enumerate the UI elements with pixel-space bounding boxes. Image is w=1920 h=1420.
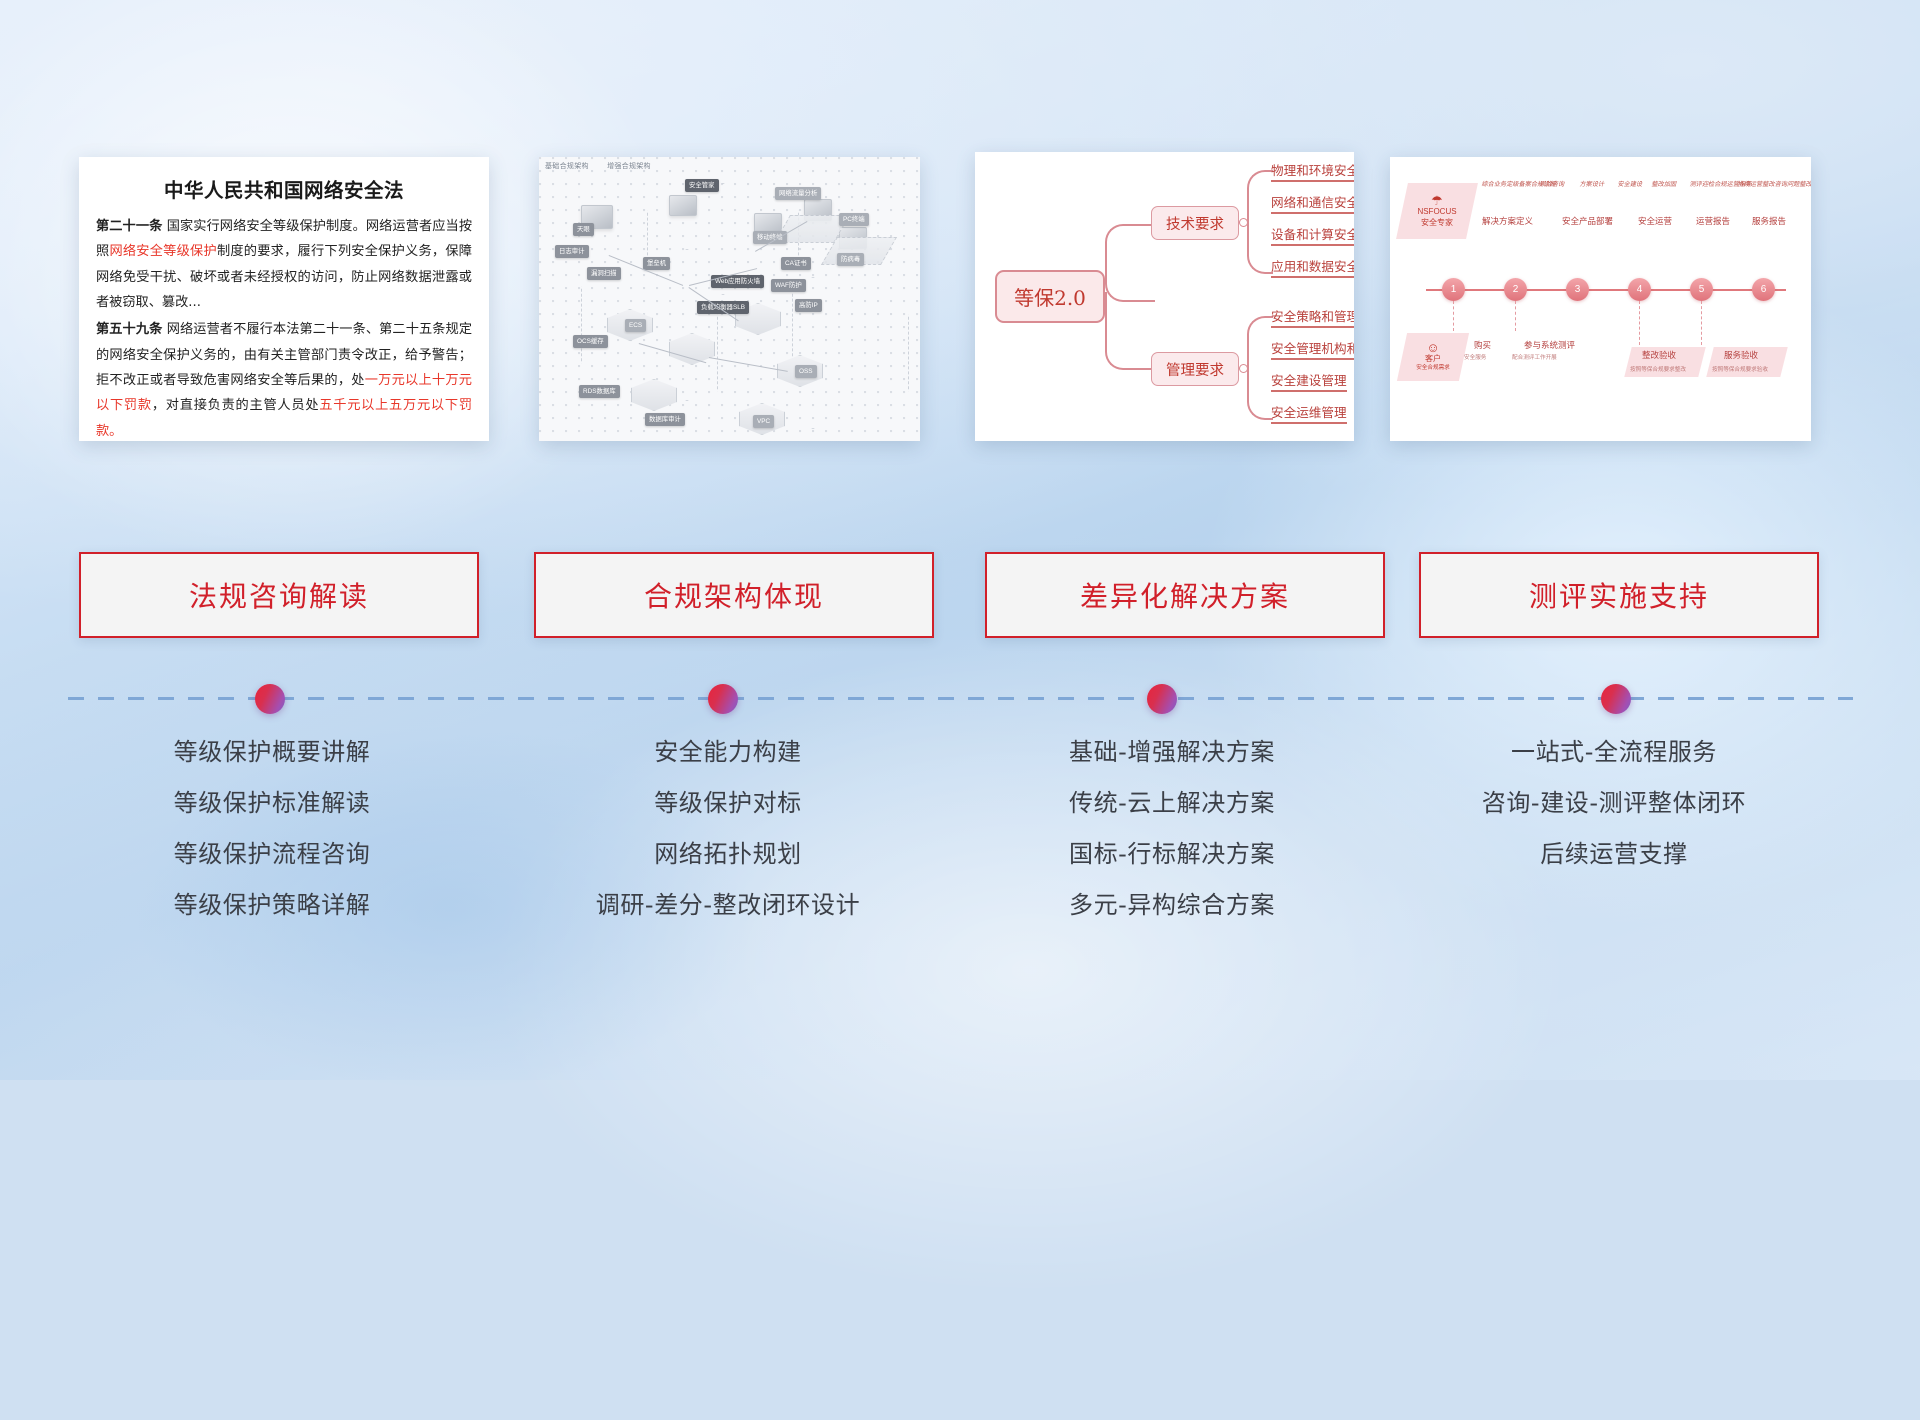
nsfocus-bottom-label-2: 参与系统测评: [1524, 339, 1575, 351]
timeline-dot-1[interactable]: [255, 684, 285, 714]
nsfocus-phase-4: 运营报告: [1696, 215, 1730, 227]
architecture-top-labels: 基础合规架构 增强合规架构: [545, 161, 667, 171]
nsfocus-phase-1: 解决方案定义: [1482, 215, 1533, 227]
nsfocus-connector-4: [1701, 301, 1703, 345]
mindmap-leaf-device: 设备和计算安全: [1271, 224, 1354, 246]
section-items-3: 基础-增强解决方案 传统-云上解决方案 国标-行标解决方案 多元-异构综合方案: [972, 740, 1372, 944]
nsfocus-expert-chip: ☂ NSFOCUS 安全专家: [1396, 183, 1478, 239]
list-item: 等级保护标准解读: [72, 791, 472, 815]
architecture-node-traffic: 网络流量分析: [775, 187, 821, 200]
nsfocus-customer-chip: ☺ 客户 安全合规需求: [1397, 333, 1469, 381]
mindmap-curve-tech-leaves: [1247, 170, 1273, 274]
list-item: 咨询-建设-测评整体闭环: [1414, 791, 1814, 815]
nsfocus-customer-sub: 安全合规需求: [1416, 365, 1450, 373]
nsfocus-step-4[interactable]: 4: [1628, 278, 1651, 301]
timeline-dot-3[interactable]: [1147, 684, 1177, 714]
list-item: 等级保护概要讲解: [72, 740, 472, 764]
nsfocus-bottom-sub-2: 配合测评工作开展: [1512, 353, 1557, 361]
architecture-node-vuln: 漏洞扫描: [587, 267, 621, 280]
mindmap-leaf-application: 应用和数据安全: [1271, 256, 1354, 278]
architecture-node-tianyan: 天眼: [573, 223, 594, 236]
nsfocus-step-1[interactable]: 1: [1442, 278, 1465, 301]
architecture-label-basic: 基础合规架构: [545, 163, 589, 170]
mindmap-root: 等保2.0: [995, 270, 1105, 323]
architecture-node-log: 日志审计: [555, 245, 589, 258]
architecture-node-ca: CA证书: [781, 257, 811, 270]
nsfocus-bottom-label-4: 服务验收: [1724, 349, 1758, 361]
timeline-dot-2[interactable]: [708, 684, 738, 714]
list-item: 调研-差分-整改闭环设计: [528, 893, 928, 917]
section-title-box-2[interactable]: 合规架构体现: [534, 552, 934, 638]
architecture-label-enhanced: 增强合规架构: [607, 163, 651, 170]
section-items-2: 安全能力构建 等级保护对标 网络拓扑规划 调研-差分-整改闭环设计: [528, 740, 928, 944]
architecture-node-ocs: OCS缓存: [573, 335, 608, 348]
nsfocus-customer-label: 客户: [1425, 354, 1441, 365]
list-item: 基础-增强解决方案: [972, 740, 1372, 764]
nsfocus-brand: NSFOCUS: [1417, 207, 1456, 218]
nsfocus-top-label-3: 方案设计: [1579, 179, 1606, 188]
card-cybersecurity-law[interactable]: 中华人民共和国网络安全法 第二十一条 国家实行网络安全等级保护制度。网络运营者应…: [79, 157, 489, 441]
architecture-diagram: 基础合规架构 增强合规架构 安全管家 网络流量分析 天眼: [539, 157, 920, 441]
law-article-59: 第五十九条 网络运营者不履行本法第二十一条、第二十五条规定的网络安全保护义务的，…: [96, 317, 472, 441]
mindmap-leaf-build: 安全建设管理: [1271, 370, 1347, 392]
architecture-cube-guanjia: [669, 195, 697, 216]
section-title-4: 测评实施支持: [1529, 575, 1709, 615]
list-item: 多元-异构综合方案: [972, 893, 1372, 917]
customer-icon: ☺: [1426, 341, 1439, 354]
card-nsfocus-timeline[interactable]: ☂ NSFOCUS 安全专家 综合业务定级备案合规诊断 风险咨询 方案设计 安全…: [1390, 157, 1811, 441]
nsfocus-connector-2: [1515, 301, 1517, 331]
mindmap-branch-management: 管理要求: [1151, 352, 1239, 386]
nsfocus-connector-3: [1639, 301, 1641, 345]
nsfocus-phase-3: 安全运营: [1638, 215, 1672, 227]
nsfocus-step-6[interactable]: 6: [1752, 278, 1775, 301]
architecture-node-ecs: ECS: [625, 319, 646, 332]
list-item: 等级保护流程咨询: [72, 842, 472, 866]
architecture-node-waf: WAF防护: [771, 279, 806, 292]
list-item: 等级保护对标: [528, 791, 928, 815]
mindmap-leaf-network: 网络和通信安全: [1271, 192, 1354, 214]
list-item: 网络拓扑规划: [528, 842, 928, 866]
mindmap-leaf-physical: 物理和环境安全: [1271, 160, 1354, 182]
mindmap: 等保2.0 技术要求 物理和环境安全 网络和通信安全 设备和计算安全 应用和数据…: [975, 152, 1354, 441]
mindmap-curve-root-mgmt: [1105, 292, 1155, 370]
nsfocus-axis: [1426, 289, 1786, 291]
architecture-node-rds: RDS数据库: [579, 385, 620, 398]
architecture-node-db-audit: 数据库审计: [645, 413, 685, 426]
list-item: 等级保护策略详解: [72, 893, 472, 917]
mindmap-leaf-policy: 安全策略和管理制度: [1271, 306, 1354, 328]
law-article-21-highlight: 网络安全等级保护: [109, 244, 217, 259]
timeline-axis: [68, 697, 1853, 700]
list-item: 国标-行标解决方案: [972, 842, 1372, 866]
list-item: 后续运营支撑: [1414, 842, 1814, 866]
nsfocus-bottom-sub-4: 按照等保合规要求验收: [1712, 365, 1768, 373]
nsfocus-bottom-label-1: 购买: [1474, 339, 1491, 351]
nsfocus-phase-2: 安全产品部署: [1562, 215, 1613, 227]
card-compliance-architecture[interactable]: 基础合规架构 增强合规架构 安全管家 网络流量分析 天眼: [539, 157, 920, 441]
section-title-2: 合规架构体现: [644, 575, 824, 615]
timeline-dot-4[interactable]: [1601, 684, 1631, 714]
nsfocus-bottom-label-3: 整改验收: [1642, 349, 1676, 361]
nsfocus-phase-5: 服务报告: [1752, 215, 1786, 227]
section-title-3: 差异化解决方案: [1080, 575, 1290, 615]
nsfocus-step-3[interactable]: 3: [1566, 278, 1589, 301]
nsfocus-role: 安全专家: [1421, 218, 1453, 229]
architecture-node-slb: 负载均衡器SLB: [697, 301, 749, 314]
architecture-node-bastion: 堡垒机: [643, 257, 670, 270]
nsfocus-bottom-sub-1: 安全服务: [1464, 353, 1486, 361]
architecture-node-vpc: VPC: [753, 415, 774, 428]
list-item: 传统-云上解决方案: [972, 791, 1372, 815]
mindmap-branch-technical: 技术要求: [1151, 206, 1239, 240]
list-item: 安全能力构建: [528, 740, 928, 764]
architecture-node-manager: 安全管家: [685, 179, 719, 192]
section-title-1: 法规咨询解读: [189, 575, 369, 615]
section-items-4: 一站式-全流程服务 咨询-建设-测评整体闭环 后续运营支撑: [1414, 740, 1814, 893]
nsfocus-timeline: ☂ NSFOCUS 安全专家 综合业务定级备案合规诊断 风险咨询 方案设计 安全…: [1390, 157, 1811, 441]
law-article-59-text-b: ，对直接负责的主管人员处: [152, 398, 319, 413]
law-article-59-label: 第五十九条: [96, 322, 162, 337]
architecture-node-highdef-ip: 高防IP: [795, 299, 822, 312]
section-items-1: 等级保护概要讲解 等级保护标准解读 等级保护流程咨询 等级保护策略详解: [72, 740, 472, 944]
nsfocus-step-2[interactable]: 2: [1504, 278, 1527, 301]
mindmap-curve-root-tech: [1105, 224, 1155, 302]
expert-icon: ☂: [1431, 194, 1443, 207]
architecture-node-antivirus: 防病毒: [837, 253, 864, 266]
mindmap-leaf-org: 安全管理机构和人员: [1271, 338, 1354, 360]
law-title: 中华人民共和国网络安全法: [96, 174, 472, 203]
nsfocus-top-label-5: 整改加固: [1651, 179, 1678, 188]
section-title-box-3[interactable]: 差异化解决方案: [985, 552, 1385, 638]
mindmap-curve-mgmt-leaves: [1247, 316, 1273, 420]
law-article-21: 第二十一条 国家实行网络安全等级保护制度。网络运营者应当按照网络安全等级保护制度…: [96, 214, 472, 315]
architecture-node-oss: OSS: [795, 365, 817, 378]
card-mindmap-dengbao[interactable]: 等保2.0 技术要求 物理和环境安全 网络和通信安全 设备和计算安全 应用和数据…: [975, 152, 1354, 441]
list-item: 一站式-全流程服务: [1414, 740, 1814, 764]
thumbnail-row: 中华人民共和国网络安全法 第二十一条 国家实行网络安全等级保护制度。网络运营者应…: [0, 0, 1920, 450]
nsfocus-connector-1: [1453, 301, 1455, 331]
law-article-21-label: 第二十一条: [96, 219, 162, 234]
nsfocus-bottom-sub-3: 按照等保合规要求整改: [1630, 365, 1686, 373]
section-title-box-4[interactable]: 测评实施支持: [1419, 552, 1819, 638]
section-title-box-1[interactable]: 法规咨询解读: [79, 552, 479, 638]
law-document: 中华人民共和国网络安全法 第二十一条 国家实行网络安全等级保护制度。网络运营者应…: [79, 157, 489, 441]
nsfocus-step-5[interactable]: 5: [1690, 278, 1713, 301]
mindmap-leaf-operation: 安全运维管理: [1271, 402, 1347, 424]
architecture-node-pc: PC终端: [839, 213, 869, 226]
nsfocus-top-label-4: 安全建设: [1617, 179, 1644, 188]
nsfocus-top-label-7: 持续运营整改咨询问题整改跟踪指导: [1737, 179, 1811, 188]
nsfocus-top-label-2: 风险咨询: [1539, 179, 1566, 188]
